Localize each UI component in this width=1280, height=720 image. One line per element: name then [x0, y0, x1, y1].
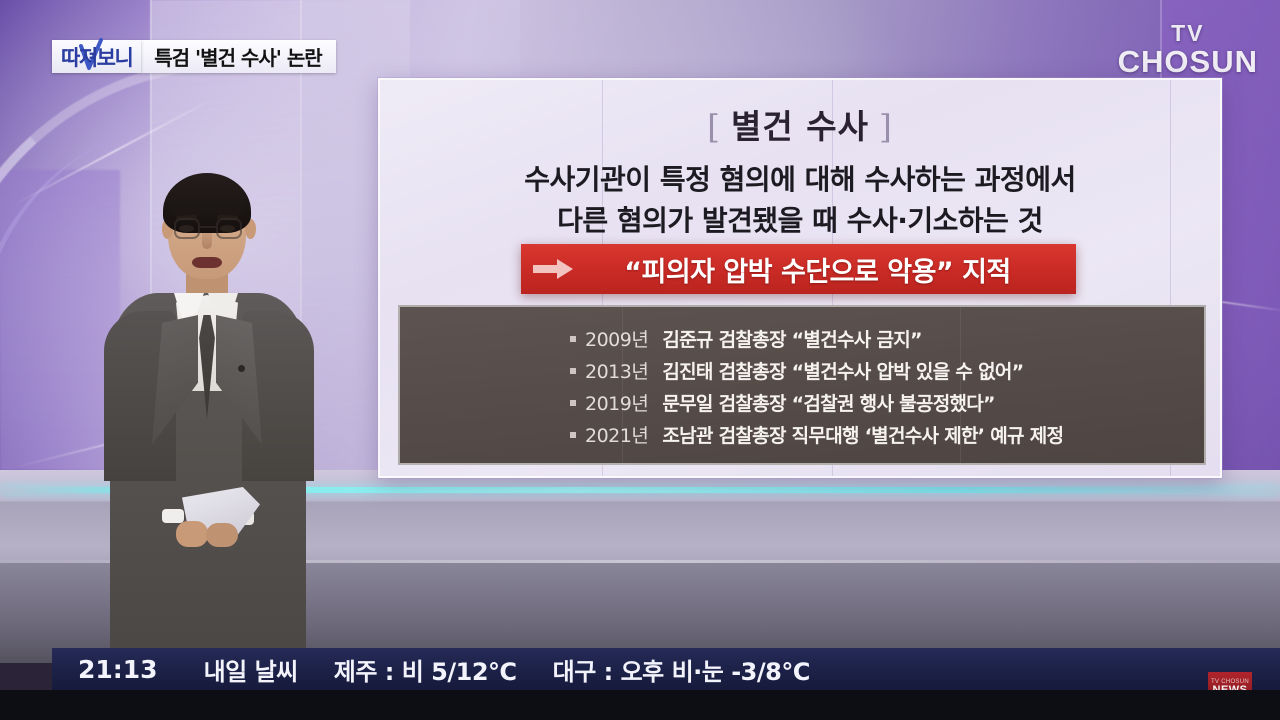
timeline-text: 김준규 검찰총장 “별건수사 금지” [662, 325, 921, 352]
red-highlight-banner: “피의자 압박 수단으로 악용” 지적 [521, 244, 1076, 294]
ticker-weather-item-daegu: 대구 : 오후 비·눈 -3/8℃ [553, 652, 810, 687]
ticker-clock: 21:13 [78, 655, 158, 684]
timeline-item: 2019년 문무일 검찰총장 “검찰권 행사 불공정했다” [570, 389, 995, 416]
news-anchor [104, 165, 314, 665]
graphic-title: [별건 수사] [380, 100, 1220, 148]
timeline-item: 2013년 김진태 검찰총장 “별건수사 압박 있을 수 없어” [570, 357, 1023, 384]
channel-logo-line2: CHOSUN [1118, 46, 1258, 77]
letterbox-bottom [0, 690, 1280, 720]
headline-text: 특검 '별건 수사' 논란 [154, 42, 321, 71]
timeline-year: 2019년 [585, 389, 648, 416]
bullet-square-icon [570, 368, 576, 374]
anchor-glasses-left [174, 218, 200, 239]
bullet-square-icon [570, 336, 576, 342]
definition-line-1: 수사기관이 특정 혐의에 대해 수사하는 과정에서 [380, 160, 1220, 201]
headline-container: 특검 '별건 수사' 논란 [141, 40, 335, 73]
anchor-mouth [192, 257, 222, 268]
timeline-text: 문무일 검찰총장 “검찰권 행사 불공정했다” [662, 389, 995, 416]
timeline-text: 조남관 검찰총장 직무대행 ‘별건수사 제한’ 예규 제정 [662, 421, 1063, 448]
bullet-square-icon [570, 400, 576, 406]
program-badge-label: 따져보니 [61, 42, 132, 72]
timeline-year: 2021년 [585, 421, 648, 448]
bullet-square-icon [570, 432, 576, 438]
info-graphic-panel: [별건 수사] 수사기관이 특정 혐의에 대해 수사하는 과정에서 다른 혐의가… [378, 78, 1222, 478]
anchor-glasses-bridge [200, 226, 216, 228]
timeline-text: 김진태 검찰총장 “별건수사 압박 있을 수 없어” [662, 357, 1023, 384]
timeline-year: 2009년 [585, 325, 648, 352]
program-title-bar: 따져보니 특검 '별건 수사' 논란 [52, 40, 336, 73]
timeline-item: 2009년 김준규 검찰총장 “별건수사 금지” [570, 325, 922, 352]
anchor-glasses-right [216, 218, 242, 239]
anchor-hand-left [176, 521, 208, 547]
bracket-left: [ [697, 107, 731, 146]
anchor-cuff-left [162, 509, 184, 523]
bottom-ticker-bar: 21:13 내일 날씨 제주 : 비 5/12℃ 대구 : 오후 비·눈 -3/… [52, 648, 1280, 690]
graphic-definition: 수사기관이 특정 혐의에 대해 수사하는 과정에서 다른 혐의가 발견됐을 때 … [380, 160, 1220, 241]
anchor-lapel-mic [238, 365, 245, 372]
timeline-panel: 2009년 김준규 검찰총장 “별건수사 금지” 2013년 김진태 검찰총장 … [398, 305, 1206, 465]
red-banner-text: “피의자 압박 수단으로 악용” 지적 [573, 250, 1076, 289]
arrow-right-icon [533, 259, 573, 279]
program-badge: 따져보니 [52, 40, 141, 73]
definition-line-2: 다른 혐의가 발견됐을 때 수사·기소하는 것 [380, 201, 1220, 242]
anchor-hand-right [206, 523, 238, 547]
timeline-year: 2013년 [585, 357, 648, 384]
channel-logo-line1: TV [1118, 22, 1258, 45]
ticker-weather-item-jeju: 제주 : 비 5/12℃ [334, 652, 517, 687]
anchor-nose [202, 233, 212, 249]
broadcast-frame: 따져보니 특검 '별건 수사' 논란 TV CHOSUN 뉴스9 [별건 수사]… [0, 0, 1280, 720]
ticker-weather-label: 내일 날씨 [204, 652, 298, 687]
graphic-title-text: 별건 수사 [731, 107, 869, 146]
bracket-right: ] [869, 107, 903, 146]
timeline-item: 2021년 조남관 검찰총장 직무대행 ‘별건수사 제한’ 예규 제정 [570, 421, 1063, 448]
